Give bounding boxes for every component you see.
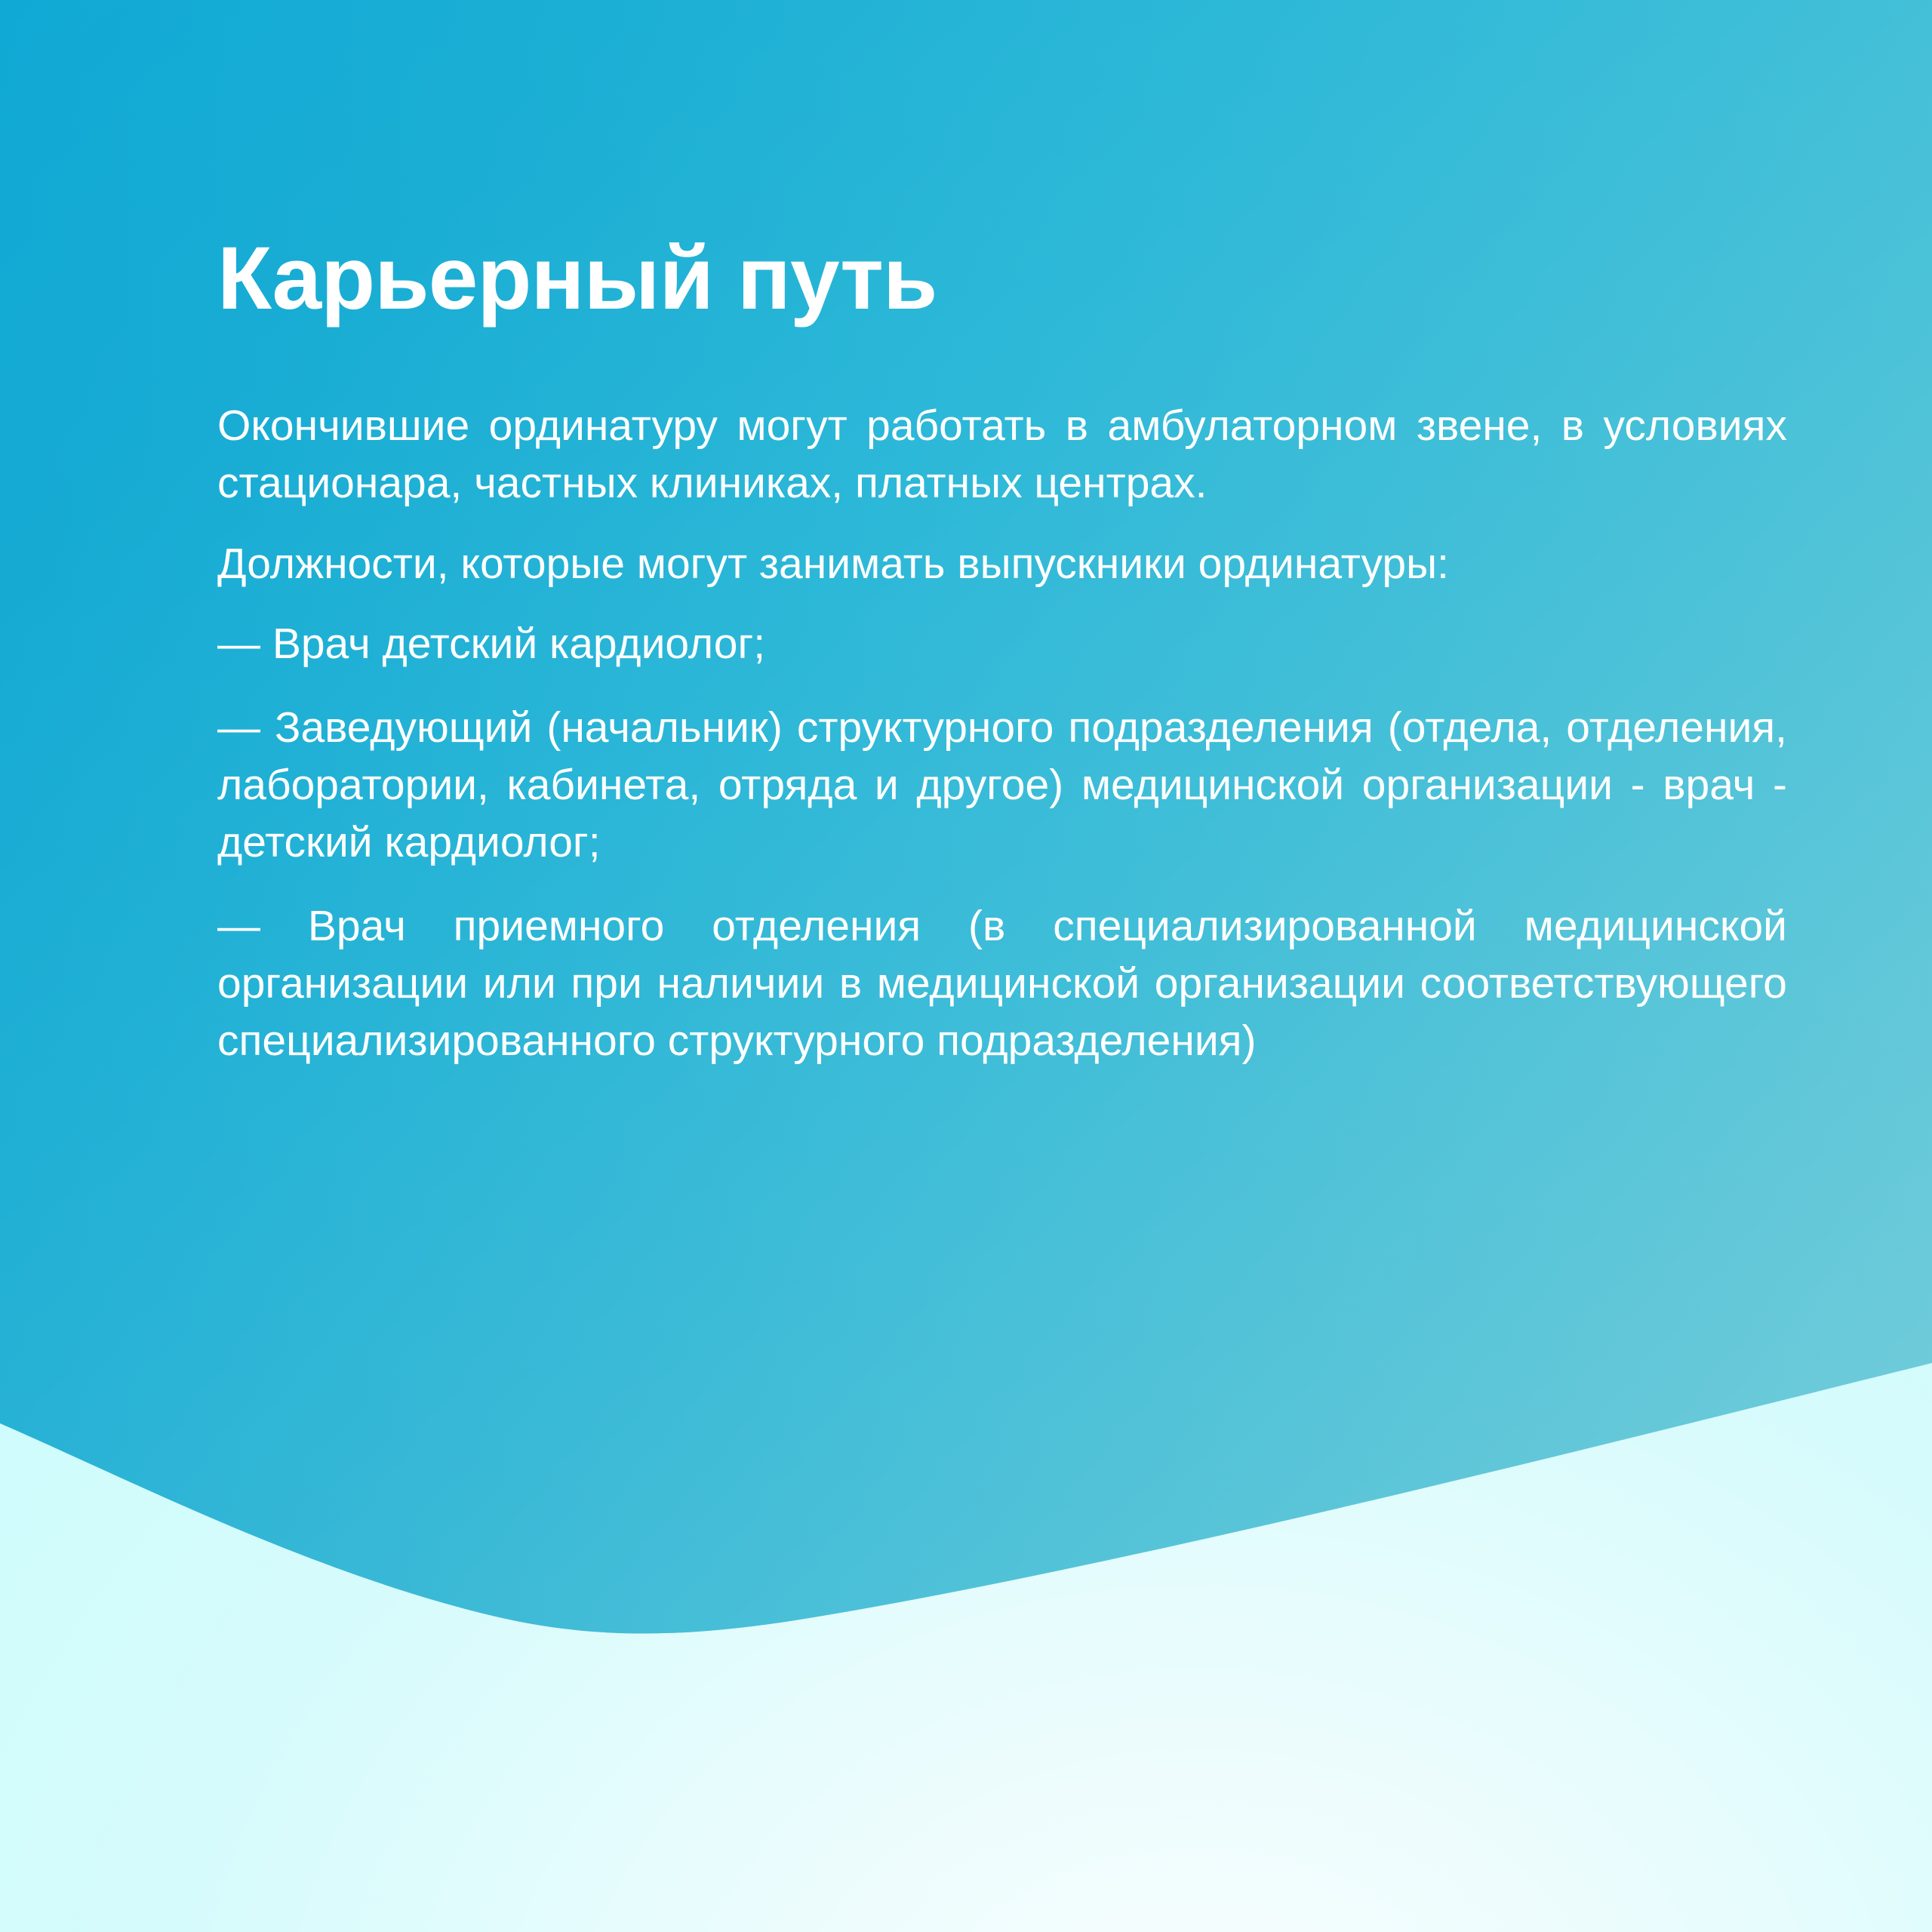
paragraph-intro: Окончившие ординатуру могут работать в а…: [217, 397, 1787, 512]
list-item-admissions-doctor: — Врач приемного отделения (в специализи…: [217, 897, 1787, 1070]
slide-canvas: Карьерный путь Окончившие ординатуру мог…: [0, 0, 1932, 1932]
list-item-pediatric-cardiologist: — Врач детский кардиолог;: [217, 615, 1787, 672]
paragraph-positions-lead: Должности, которые могут занимать выпуск…: [217, 535, 1787, 592]
page-title: Карьерный путь: [217, 0, 1787, 323]
list-item-department-head: — Заведующий (начальник) структурного по…: [217, 699, 1787, 872]
body-text-block: Окончившие ординатуру могут работать в а…: [217, 397, 1787, 1070]
slide-content: Карьерный путь Окончившие ординатуру мог…: [217, 0, 1787, 1096]
